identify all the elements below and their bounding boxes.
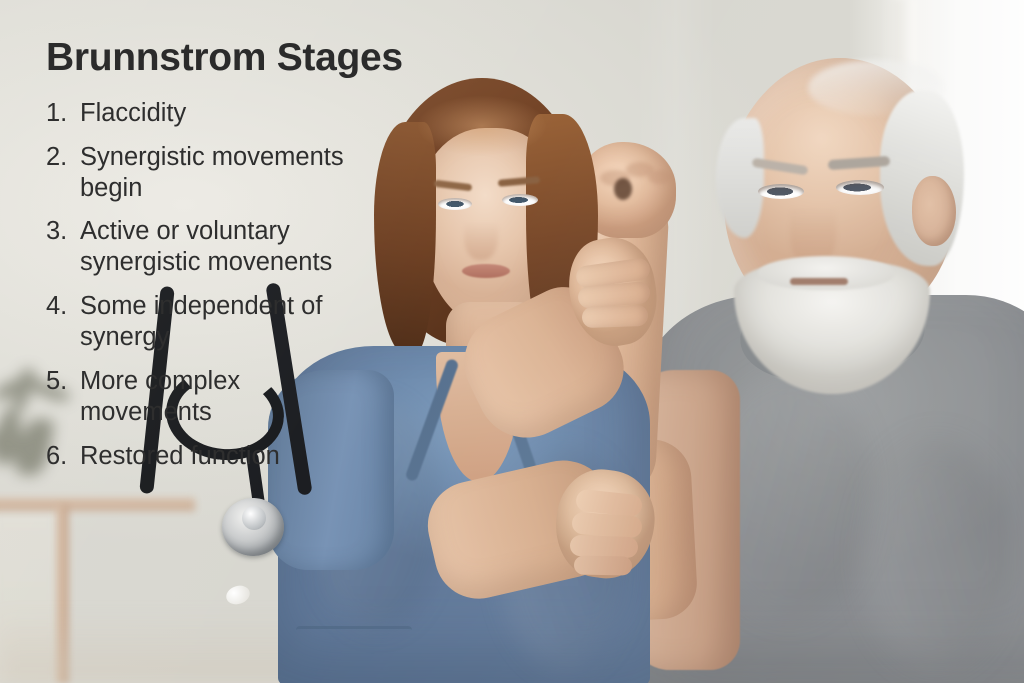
list-item-label: Restored function — [80, 441, 376, 472]
patient-hair-left — [716, 118, 764, 238]
list-item-label: Flaccidity — [80, 98, 376, 129]
list-item-number: 3. — [46, 216, 80, 278]
list-item-label: Some independent of synergy — [80, 291, 376, 353]
list-item: 3. Active or voluntary synergistic moven… — [46, 216, 376, 278]
list-item: 6. Restored function — [46, 441, 376, 472]
scrub-button — [224, 583, 252, 608]
patient-eye-right — [836, 180, 884, 195]
photo-infographic: Brunnstrom Stages 1. Flaccidity 2. Syner… — [0, 0, 1024, 683]
therapist-eye-right — [502, 194, 538, 206]
list-item-number: 2. — [46, 142, 80, 204]
list-item-label: Synergistic movements begin — [80, 142, 376, 204]
finger — [582, 305, 649, 328]
finger — [570, 535, 639, 558]
list-item-number: 5. — [46, 366, 80, 428]
patient-nose — [790, 192, 836, 266]
page-title: Brunnstrom Stages — [46, 38, 470, 79]
list-item-label: More complex movements — [80, 366, 376, 428]
patient-ear — [912, 176, 956, 246]
text-overlay: Brunnstrom Stages 1. Flaccidity 2. Syner… — [0, 0, 470, 560]
list-item-number: 4. — [46, 291, 80, 353]
list-item-label: Active or voluntary synergistic movenent… — [80, 216, 376, 278]
finger — [574, 555, 632, 575]
list-item-number: 1. — [46, 98, 80, 129]
list-item: 1. Flaccidity — [46, 98, 376, 129]
list-item: 2. Synergistic movements begin — [46, 142, 376, 204]
patient-mouth — [790, 278, 848, 285]
list-item-number: 6. — [46, 441, 80, 472]
stages-list: 1. Flaccidity 2. Synergistic movements b… — [46, 98, 470, 471]
list-item: 4. Some independent of synergy — [46, 291, 376, 353]
list-item: 5. More complex movements — [46, 366, 376, 428]
tshirt-fold — [862, 440, 1012, 670]
scrub-pocket — [296, 626, 412, 683]
